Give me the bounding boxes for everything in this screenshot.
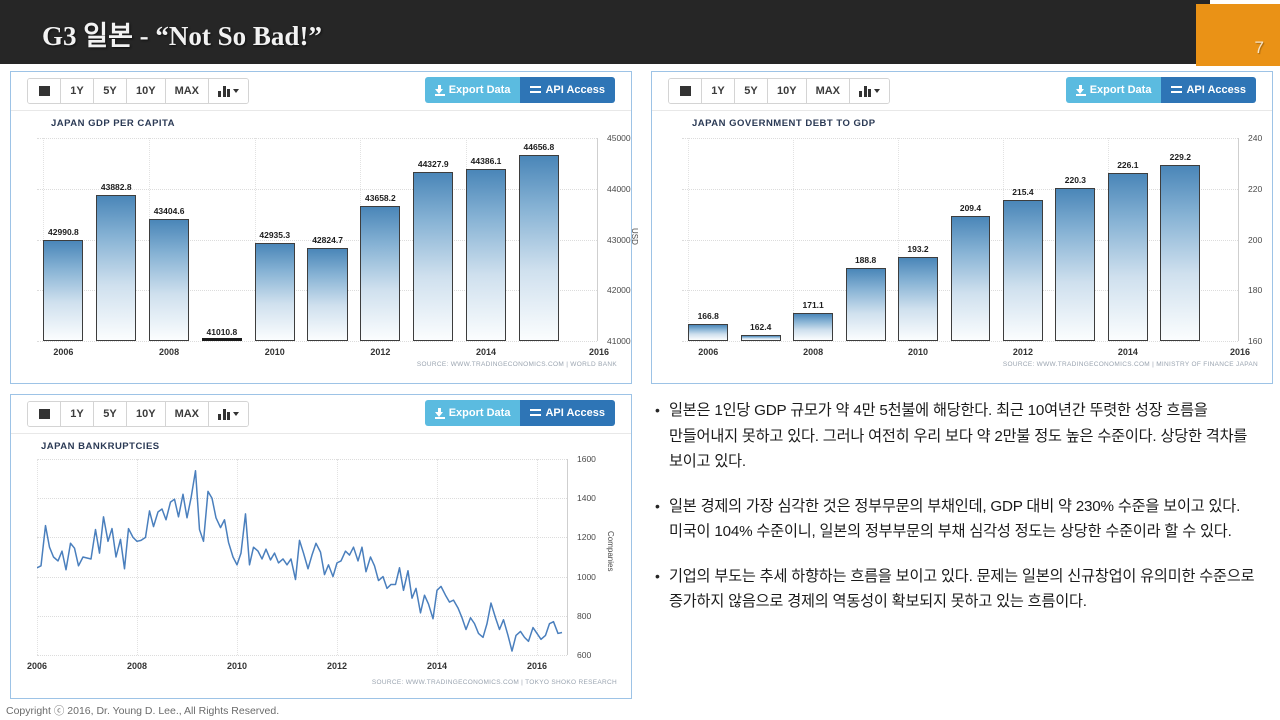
chart-bar[interactable] [43,240,83,341]
range-max-button[interactable]: MAX [166,402,209,426]
chart-plot-area: 410004200043000440004500042990.843882.84… [37,138,597,341]
api-access-button[interactable]: API Access [1161,77,1256,103]
bar-value-label: 193.2 [907,244,928,254]
y-axis-tick-label: 43000 [607,235,631,245]
chart-toolbar: 1Y 5Y 10Y MAX Export Data API Access [652,72,1272,111]
x-axis-tick-label: 2016 [589,347,609,357]
toolbar-actions: Export Data API Access [1066,77,1256,103]
x-axis-tick-label: 2010 [265,347,285,357]
chart-plot-area: 6008001000120014001600200620082010201220… [37,459,567,655]
calendar-button[interactable] [28,79,61,103]
bar-value-label: 43658.2 [365,193,396,203]
y-axis-line [1238,138,1239,341]
x-axis-tick-label: 2016 [527,661,547,671]
export-data-label: Export Data [449,400,511,426]
chevron-down-icon [233,89,239,93]
y-axis-tick-label: 220 [1248,184,1262,194]
y-axis-tick-label: 600 [577,650,591,660]
chevron-down-icon [233,412,239,416]
bar-value-label: 42935.3 [259,230,290,240]
toolbar-actions: Export Data API Access [425,400,615,426]
y-axis-line [567,459,568,655]
x-axis-tick-label: 2014 [1118,347,1138,357]
bullet-marker: • [652,398,669,475]
chart-panel-japan-government-debt-to-gdp: 1Y 5Y 10Y MAX Export Data API Access JAP… [651,71,1273,384]
x-axis-tick-label: 2006 [27,661,47,671]
calendar-button[interactable] [669,79,702,103]
bar-chart-icon [218,409,230,420]
toolbar-actions: Export Data API Access [425,77,615,103]
list-item: • 일본은 1인당 GDP 규모가 약 4만 5천불에 해당한다. 최근 10여… [652,398,1264,475]
chart-bar[interactable] [793,313,833,341]
x-axis-tick-label: 2012 [327,661,347,671]
y-axis-tick-label: 1600 [577,454,596,464]
y-axis-tick-label: 45000 [607,133,631,143]
range-5y-button[interactable]: 5Y [94,79,127,103]
chart-bar[interactable] [688,324,728,341]
bullet-text: 일본 경제의 가장 심각한 것은 정부무문의 부채인데, GDP 대비 약 23… [669,494,1264,545]
y-axis-tick-label: 42000 [607,285,631,295]
x-axis-tick-label: 2014 [476,347,496,357]
range-5y-button[interactable]: 5Y [94,402,127,426]
gridline [37,655,567,656]
export-data-button[interactable]: Export Data [425,77,521,103]
export-data-label: Export Data [449,77,511,103]
download-icon [1076,85,1086,96]
bar-value-label: 226.1 [1117,160,1138,170]
bar-value-label: 42990.8 [48,227,79,237]
download-icon [435,408,445,419]
chart-source: SOURCE: WWW.TRADINGECONOMICS.COM | MINIS… [1003,361,1258,368]
page-number-badge: 7 [1196,4,1280,66]
range-max-button[interactable]: MAX [166,79,209,103]
exchange-arrows-icon [530,85,541,95]
chart-title: JAPAN GDP PER CAPITA [51,118,175,129]
chart-bar[interactable] [202,338,242,341]
export-data-button[interactable]: Export Data [425,400,521,426]
api-access-button[interactable]: API Access [520,77,615,103]
calendar-icon [39,408,50,420]
range-10y-button[interactable]: 10Y [768,79,807,103]
gridline [37,341,597,342]
range-button-group[interactable]: 1Y 5Y 10Y MAX [27,401,249,427]
chart-bar[interactable] [519,155,559,341]
page-number: 7 [1255,38,1264,58]
bullet-text: 일본은 1인당 GDP 규모가 약 4만 5천불에 해당한다. 최근 10여년간… [669,398,1264,475]
y-axis-tick-label: 160 [1248,336,1262,346]
bullet-marker: • [652,564,669,615]
bar-value-label: 42824.7 [312,235,343,245]
range-10y-button[interactable]: 10Y [127,402,166,426]
page-title: G3 일본 - “Not So Bad!” [42,14,322,53]
chart-panel-japan-bankruptcies: 1Y 5Y 10Y MAX Export Data API Access JAP… [10,394,632,699]
chevron-down-icon [874,89,880,93]
x-axis-tick-label: 2012 [1013,347,1033,357]
bar-value-label: 171.1 [802,300,823,310]
y-axis-tick-label: 44000 [607,184,631,194]
line-series[interactable] [37,459,567,655]
chart-plot-area: 160180200220240166.8162.4171.1188.8193.2… [682,138,1238,341]
api-access-button[interactable]: API Access [520,400,615,426]
chart-bar[interactable] [413,172,453,341]
gridline [37,138,597,139]
chart-bar[interactable] [255,243,295,341]
bar-value-label: 44386.1 [471,156,502,166]
x-axis-tick-label: 2008 [803,347,823,357]
bar-value-label: 220.3 [1065,175,1086,185]
x-axis-tick-label: 2006 [53,347,73,357]
chart-bar[interactable] [1003,200,1043,341]
bar-value-label: 44327.9 [418,159,449,169]
chart-toolbar: 1Y 5Y 10Y MAX Export Data API Access [11,72,631,111]
exchange-arrows-icon [1171,85,1182,95]
chart-bar[interactable] [96,195,136,341]
bar-value-label: 188.8 [855,255,876,265]
bullet-list: • 일본은 1인당 GDP 규모가 약 4만 5천불에 해당한다. 최근 10여… [652,398,1264,634]
chart-source: SOURCE: WWW.TRADINGECONOMICS.COM | WORLD… [417,361,617,368]
api-access-label: API Access [545,77,605,103]
slide-title-bar: G3 일본 - “Not So Bad!” [0,0,1210,64]
chart-bar[interactable] [951,216,991,341]
chart-toolbar: 1Y 5Y 10Y MAX Export Data API Access [11,395,631,434]
chart-bar[interactable] [898,257,938,341]
y-axis-label: Companies [606,531,615,571]
chart-source: SOURCE: WWW.TRADINGECONOMICS.COM | TOKYO… [372,679,617,686]
y-axis-label: USD [630,228,639,245]
export-data-button[interactable]: Export Data [1066,77,1162,103]
y-axis-tick-label: 200 [1248,235,1262,245]
exchange-arrows-icon [530,408,541,418]
calendar-icon [39,85,50,97]
x-axis-tick-label: 2008 [159,347,179,357]
bullet-text: 기업의 부도는 추세 하향하는 흐름을 보이고 있다. 문제는 일본의 신규창업… [669,564,1264,615]
list-item: • 일본 경제의 가장 심각한 것은 정부무문의 부채인데, GDP 대비 약 … [652,494,1264,545]
bar-chart-icon [859,86,871,97]
y-axis-tick-label: 800 [577,611,591,621]
chart-bar[interactable] [307,248,347,341]
chart-title: JAPAN BANKRUPTCIES [41,441,160,452]
chart-panel-japan-gdp-per-capita: 1Y 5Y 10Y MAX Export Data API Access JAP… [10,71,632,384]
x-axis-tick-label: 2010 [908,347,928,357]
calendar-icon [680,85,691,97]
x-axis-tick-label: 2008 [127,661,147,671]
x-axis-tick-label: 2012 [370,347,390,357]
export-data-label: Export Data [1090,77,1152,103]
x-axis-tick-label: 2006 [698,347,718,357]
bullet-marker: • [652,494,669,545]
list-item: • 기업의 부도는 추세 하향하는 흐름을 보이고 있다. 문제는 일본의 신규… [652,564,1264,615]
api-access-label: API Access [545,400,605,426]
chart-bar[interactable] [360,206,400,341]
gridline [682,341,1238,342]
chart-bar[interactable] [1108,173,1148,341]
chart-type-dropdown[interactable] [850,79,889,103]
y-axis-tick-label: 1400 [577,493,596,503]
chart-bar[interactable] [846,268,886,341]
api-access-label: API Access [1186,77,1246,103]
bar-value-label: 209.4 [960,203,981,213]
bar-value-label: 43882.8 [101,182,132,192]
gridline [682,189,1238,190]
gridline [688,138,689,341]
copyright-text: Copyright ⓒ 2016, Dr. Young D. Lee., All… [6,703,279,718]
chart-bar[interactable] [1160,165,1200,341]
y-axis-tick-label: 1200 [577,532,596,542]
download-icon [435,85,445,96]
y-axis-tick-label: 240 [1248,133,1262,143]
x-axis-tick-label: 2014 [427,661,447,671]
bar-value-label: 162.4 [750,322,771,332]
bar-chart-icon [218,86,230,97]
range-button-group[interactable]: 1Y 5Y 10Y MAX [668,78,890,104]
bar-value-label: 215.4 [1012,187,1033,197]
chart-bar[interactable] [466,169,506,341]
bar-value-label: 41010.8 [207,327,238,337]
range-10y-button[interactable]: 10Y [127,79,166,103]
bar-value-label: 43404.6 [154,206,185,216]
chart-title: JAPAN GOVERNMENT DEBT TO GDP [692,118,876,129]
range-max-button[interactable]: MAX [807,79,850,103]
range-1y-button[interactable]: 1Y [61,402,94,426]
calendar-button[interactable] [28,402,61,426]
y-axis-tick-label: 180 [1248,285,1262,295]
chart-type-dropdown[interactable] [209,402,248,426]
bar-value-label: 229.2 [1170,152,1191,162]
range-1y-button[interactable]: 1Y [61,79,94,103]
y-axis-tick-label: 1000 [577,572,596,582]
chart-bar[interactable] [741,335,781,341]
gridline [793,138,794,341]
range-button-group[interactable]: 1Y 5Y 10Y MAX [27,78,249,104]
y-axis-line [597,138,598,341]
chart-bar[interactable] [149,219,189,341]
bar-value-label: 166.8 [698,311,719,321]
gridline [682,138,1238,139]
x-axis-tick-label: 2016 [1230,347,1250,357]
chart-type-dropdown[interactable] [209,79,248,103]
x-axis-tick-label: 2010 [227,661,247,671]
chart-bar[interactable] [1055,188,1095,341]
y-axis-tick-label: 41000 [607,336,631,346]
range-1y-button[interactable]: 1Y [702,79,735,103]
bar-value-label: 44656.8 [524,142,555,152]
range-5y-button[interactable]: 5Y [735,79,768,103]
